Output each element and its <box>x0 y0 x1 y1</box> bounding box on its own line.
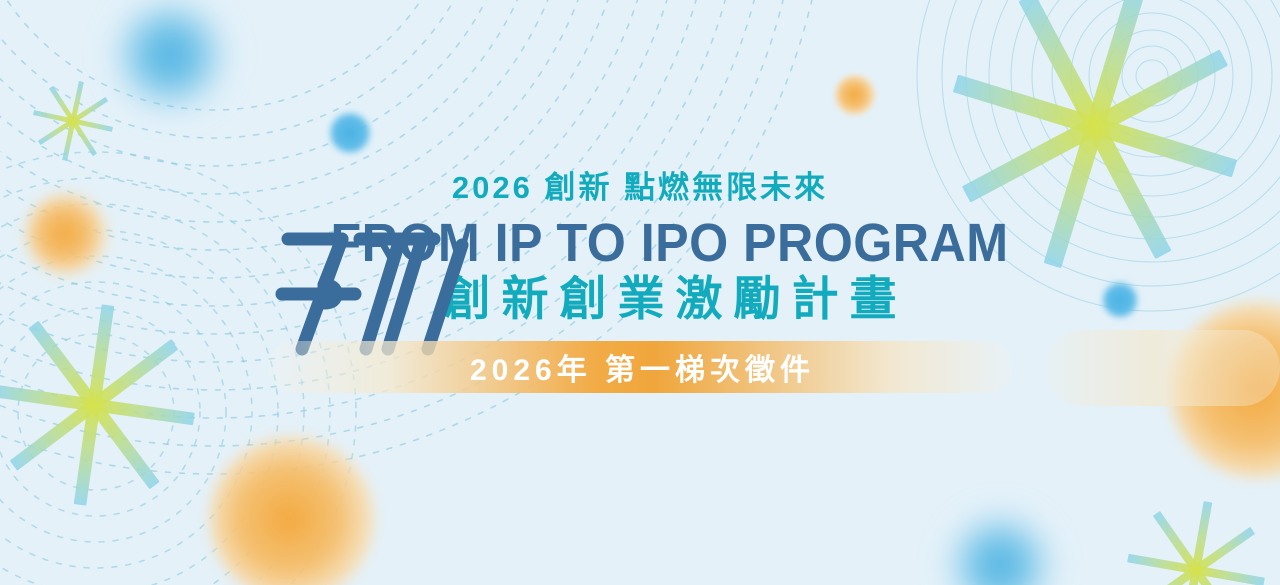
headline-chinese: 創新創業激勵計畫 <box>433 273 908 325</box>
headline-english: FROM IP TO IPO PROGRAM <box>331 215 1009 271</box>
tagline: 2026 創新 點燃無限未來 <box>452 172 828 203</box>
title-lockup: FROM IP TO IPO PROGRAM 創新創業激勵計畫 <box>0 215 1280 325</box>
badge-label: 2026年 第一梯次徵件 <box>465 345 815 389</box>
call-round-badge: 2026年 第一梯次徵件 <box>268 341 1012 393</box>
promotional-banner: 2026 創新 點燃無限未來 FROM IP TO IPO PROGRAM 創新… <box>0 0 1280 585</box>
